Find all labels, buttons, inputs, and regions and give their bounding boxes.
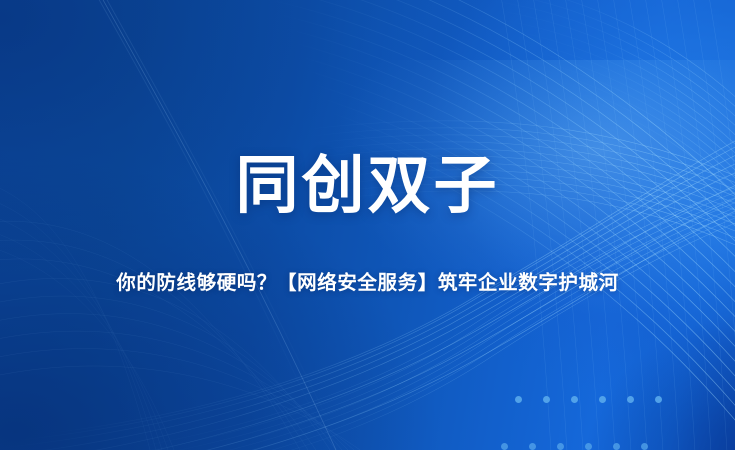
banner-content: 同创双子 你的防线够硬吗？【网络安全服务】筑牢企业数字护城河 — [0, 0, 735, 450]
banner-headline: 同创双子 — [236, 153, 500, 219]
promo-banner: 同创双子 你的防线够硬吗？【网络安全服务】筑牢企业数字护城河 — [0, 0, 735, 450]
banner-subheadline: 你的防线够硬吗？【网络安全服务】筑牢企业数字护城河 — [116, 271, 619, 296]
